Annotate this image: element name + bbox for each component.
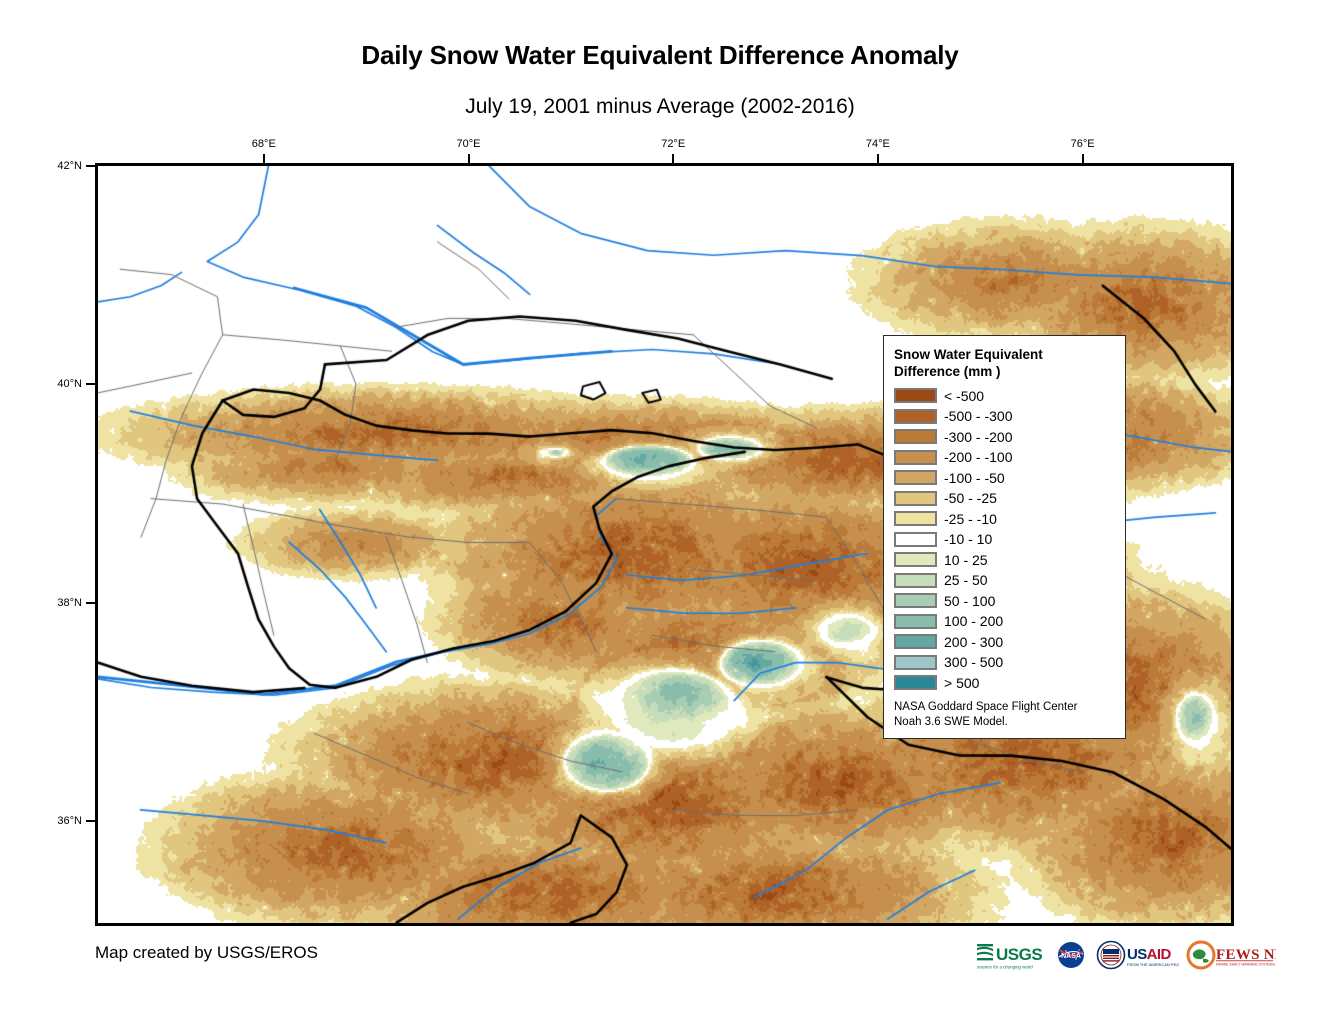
longitude-label: 68°E xyxy=(252,138,276,150)
legend-swatch xyxy=(894,614,937,629)
legend-row: 200 - 300 xyxy=(894,632,1115,653)
svg-text:FROM THE AMERICAN PEOPLE: FROM THE AMERICAN PEOPLE xyxy=(1127,962,1179,967)
longitude-label: 74°E xyxy=(866,138,890,150)
longitude-label: 72°E xyxy=(661,138,685,150)
legend-swatch xyxy=(894,593,937,608)
legend-label: < -500 xyxy=(944,388,984,404)
legend-label: -10 - 10 xyxy=(944,531,992,547)
legend-swatch xyxy=(894,409,937,424)
latitude-label: 36°N xyxy=(36,815,82,827)
nasa-logo: NASA xyxy=(1054,937,1088,973)
legend-swatch xyxy=(894,388,937,403)
legend-label: -100 - -50 xyxy=(944,470,1005,486)
longitude-label: 70°E xyxy=(457,138,481,150)
page-title: Daily Snow Water Equivalent Difference A… xyxy=(0,40,1320,71)
legend-row: 100 - 200 xyxy=(894,611,1115,632)
legend-row: -100 - -50 xyxy=(894,468,1115,489)
usgs-logo: USGS science for a changing world xyxy=(975,937,1047,973)
legend-label: -300 - -200 xyxy=(944,429,1012,445)
legend-swatch xyxy=(894,450,937,465)
longitude-tick xyxy=(672,154,674,163)
legend-swatch xyxy=(894,511,937,526)
fewsnet-logo: FEWS NET FAMINE EARLY WARNING SYSTEMS NE… xyxy=(1186,937,1276,973)
legend-row: 300 - 500 xyxy=(894,652,1115,673)
latitude-tick xyxy=(86,820,95,822)
legend-swatch xyxy=(894,675,937,690)
svg-text:USGS: USGS xyxy=(996,945,1042,964)
legend-attribution: NASA Goddard Space Flight Center Noah 3.… xyxy=(894,700,1115,730)
legend-row: -500 - -300 xyxy=(894,406,1115,427)
longitude-tick xyxy=(877,154,879,163)
legend-row: > 500 xyxy=(894,673,1115,694)
legend-swatch xyxy=(894,470,937,485)
legend-label: 300 - 500 xyxy=(944,654,1003,670)
legend-swatch xyxy=(894,532,937,547)
map-credit: Map created by USGS/EROS xyxy=(95,943,318,963)
legend-label: 25 - 50 xyxy=(944,572,988,588)
legend-row: -200 - -100 xyxy=(894,447,1115,468)
legend-row: -25 - -10 xyxy=(894,509,1115,530)
legend-label: 10 - 25 xyxy=(944,552,988,568)
legend-title: Snow Water Equivalent Difference (mm ) xyxy=(894,346,1115,381)
legend-label: > 500 xyxy=(944,675,979,691)
legend-swatch xyxy=(894,552,937,567)
legend-row: -50 - -25 xyxy=(894,488,1115,509)
legend-row: < -500 xyxy=(894,386,1115,407)
legend-row: 50 - 100 xyxy=(894,591,1115,612)
legend-swatch xyxy=(894,491,937,506)
latitude-label: 40°N xyxy=(36,378,82,390)
legend-row: -10 - 10 xyxy=(894,529,1115,550)
legend-label: -500 - -300 xyxy=(944,408,1012,424)
legend-swatch xyxy=(894,573,937,588)
legend-swatch xyxy=(894,655,937,670)
legend-row: 10 - 25 xyxy=(894,550,1115,571)
longitude-tick xyxy=(263,154,265,163)
legend-label: -200 - -100 xyxy=(944,449,1012,465)
legend-label: 50 - 100 xyxy=(944,593,995,609)
legend-class-list: < -500-500 - -300-300 - -200-200 - -100-… xyxy=(894,386,1115,694)
latitude-label: 42°N xyxy=(36,160,82,172)
legend-label: -50 - -25 xyxy=(944,490,997,506)
latitude-tick xyxy=(86,165,95,167)
page-subtitle: July 19, 2001 minus Average (2002-2016) xyxy=(0,95,1320,119)
legend-label: 200 - 300 xyxy=(944,634,1003,650)
longitude-tick xyxy=(1082,154,1084,163)
legend-panel: Snow Water Equivalent Difference (mm ) <… xyxy=(883,335,1126,739)
svg-text:NASA: NASA xyxy=(1061,953,1081,960)
legend-label: 100 - 200 xyxy=(944,613,1003,629)
legend-label: -25 - -10 xyxy=(944,511,997,527)
logo-bar: USGS science for a changing world NASA U… xyxy=(975,934,1230,976)
svg-text:science for a changing world: science for a changing world xyxy=(977,965,1033,970)
longitude-tick xyxy=(468,154,470,163)
legend-row: 25 - 50 xyxy=(894,570,1115,591)
svg-text:FAMINE EARLY WARNING SYSTEMS N: FAMINE EARLY WARNING SYSTEMS NETWORK xyxy=(1216,963,1276,967)
legend-row: -300 - -200 xyxy=(894,427,1115,448)
legend-swatch xyxy=(894,429,937,444)
usaid-logo: USAID FROM THE AMERICAN PEOPLE xyxy=(1095,937,1179,973)
longitude-label: 76°E xyxy=(1071,138,1095,150)
latitude-label: 38°N xyxy=(36,597,82,609)
latitude-tick xyxy=(86,602,95,604)
legend-swatch xyxy=(894,634,937,649)
latitude-tick xyxy=(86,383,95,385)
svg-text:USAID: USAID xyxy=(1127,946,1171,963)
